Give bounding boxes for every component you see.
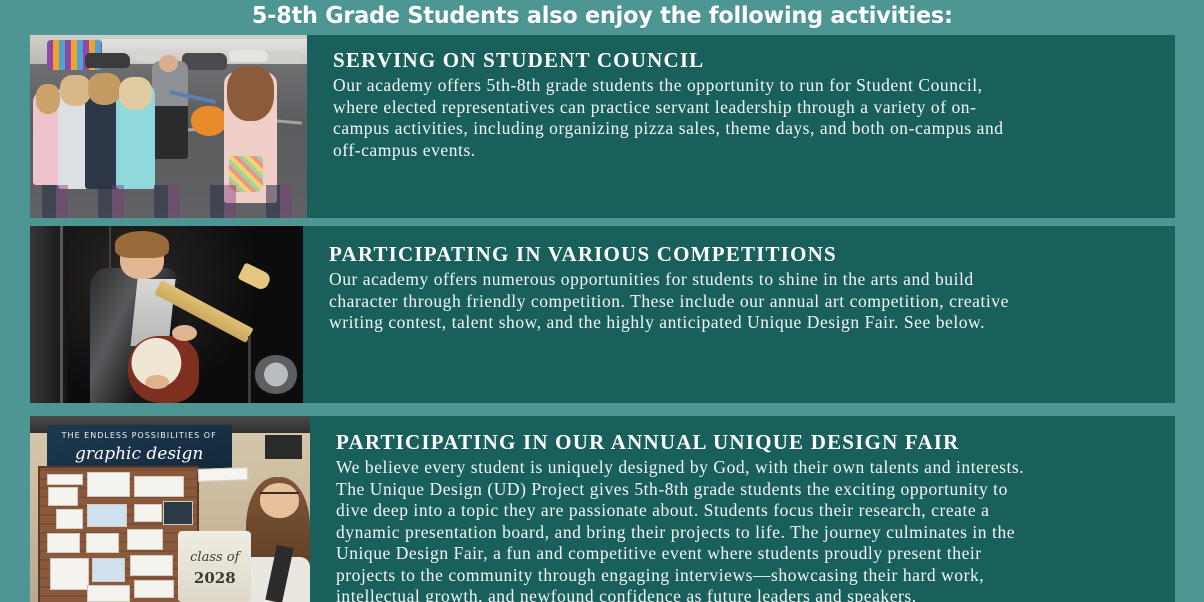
activity-text-block: PARTICIPATING IN VARIOUS COMPETITIONS Ou… [303,226,1175,403]
activity-panel: THE ENDLESS POSSIBILITIES OF graphic des… [30,416,1175,602]
activity-description: We believe every student is uniquely des… [336,457,1155,602]
activity-panel: PARTICIPATING IN VARIOUS COMPETITIONS Ou… [30,226,1175,403]
tshirt-text-line-1: class of [184,550,246,565]
activity-photo-student-council [30,35,307,218]
tshirt-text-line-2: 2028 [184,569,246,587]
activity-heading: PARTICIPATING IN VARIOUS COMPETITIONS [329,242,1155,267]
board-banner-line-1: THE ENDLESS POSSIBILITIES OF [55,431,223,440]
photo-design-fair-board: THE ENDLESS POSSIBILITIES OF graphic des… [30,416,310,602]
activities-page: 5-8th Grade Students also enjoy the foll… [0,0,1204,602]
activity-panel: SERVING ON STUDENT COUNCIL Our academy o… [30,35,1175,218]
photo-guitarist-on-stage [30,226,303,403]
photo-trunk-or-treat [30,35,307,218]
page-title: 5-8th Grade Students also enjoy the foll… [252,3,953,29]
activity-heading: PARTICIPATING IN OUR ANNUAL UNIQUE DESIG… [336,430,1155,455]
activity-heading: SERVING ON STUDENT COUNCIL [333,48,1155,73]
activity-text-block: PARTICIPATING IN OUR ANNUAL UNIQUE DESIG… [310,416,1175,602]
activity-photo-unique-design-fair: THE ENDLESS POSSIBILITIES OF graphic des… [30,416,310,602]
activity-text-block: SERVING ON STUDENT COUNCIL Our academy o… [307,35,1175,218]
activity-photo-competitions [30,226,303,403]
activity-description: Our academy offers 5th-8th grade student… [333,75,1155,161]
activity-description: Our academy offers numerous opportunitie… [329,269,1155,334]
page-header: 5-8th Grade Students also enjoy the foll… [0,0,1204,32]
board-banner-line-2: graphic design [55,444,223,464]
